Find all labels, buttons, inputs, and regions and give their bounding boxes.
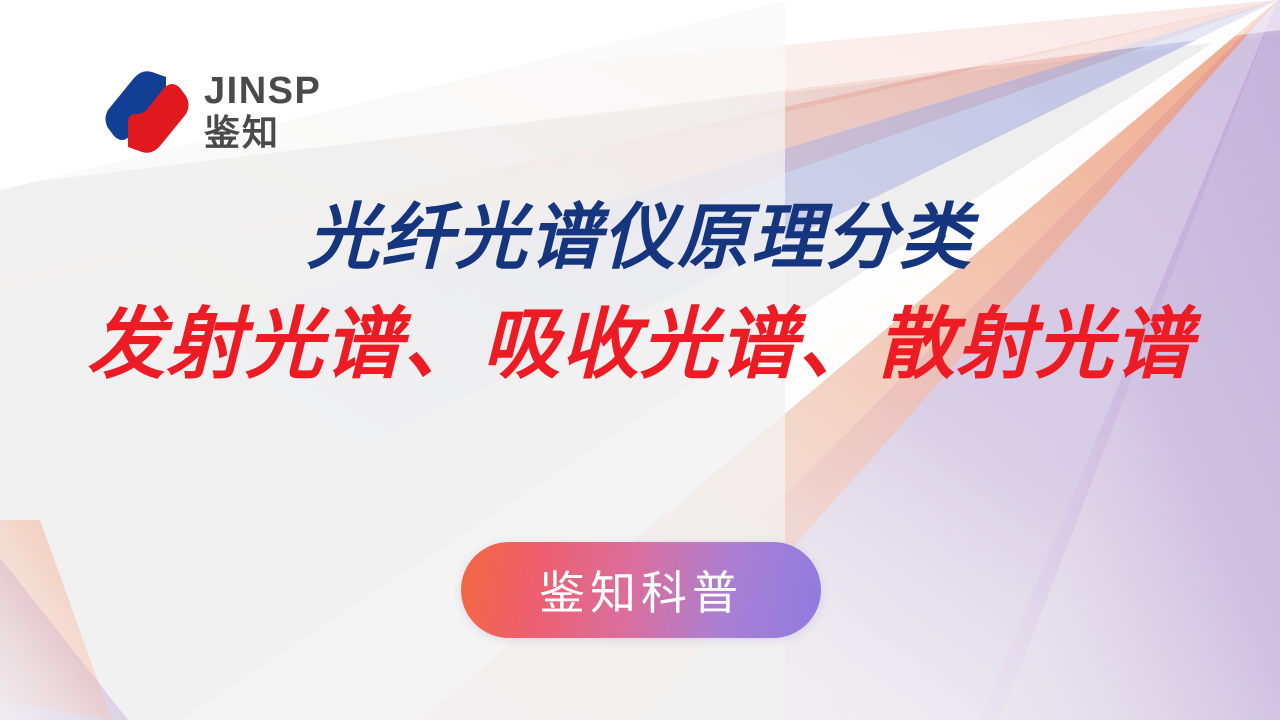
poster-subtitle: 发射光谱、吸收光谱、散射光谱: [0, 303, 1280, 387]
poster-title: 光纤光谱仪原理分类: [0, 198, 1280, 277]
brand-wordmark: JINSP 鉴知: [204, 72, 321, 152]
brand-chinese-name: 鉴知: [204, 116, 321, 152]
cta-pill-button[interactable]: 鉴知科普: [461, 542, 821, 638]
poster-canvas: JINSP 鉴知 光纤光谱仪原理分类 发射光谱、吸收光谱、散射光谱 鉴知科普: [0, 0, 1280, 720]
cta-pill-label: 鉴知科普: [539, 557, 743, 623]
brand-latin-name: JINSP: [204, 72, 321, 110]
headline-block: 光纤光谱仪原理分类 发射光谱、吸收光谱、散射光谱: [0, 198, 1280, 387]
jinsp-arrow-logo-icon: [104, 66, 190, 158]
brand-logo[interactable]: JINSP 鉴知: [104, 66, 321, 158]
